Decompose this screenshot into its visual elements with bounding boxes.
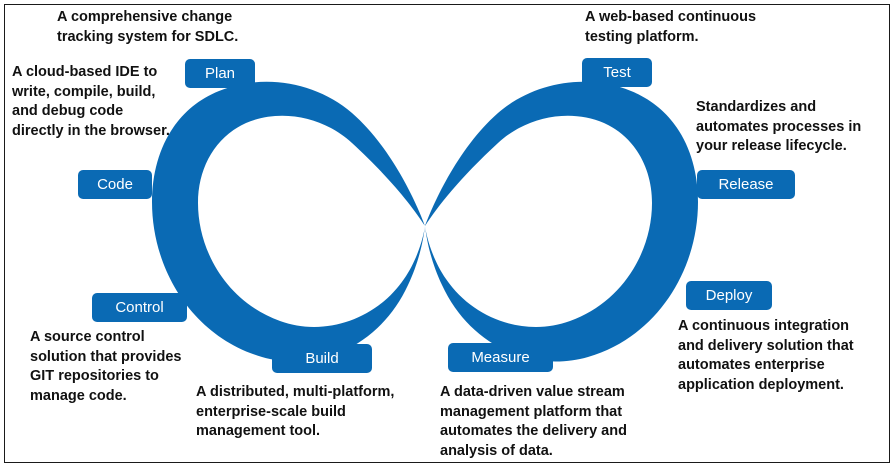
stage-label-measure[interactable]: Measure — [448, 343, 553, 372]
infinity-right-lobe — [425, 82, 698, 362]
caption-plan: A comprehensive change tracking system f… — [57, 8, 307, 47]
stage-label-code[interactable]: Code — [78, 170, 152, 199]
caption-measure: A data-driven value stream management pl… — [440, 383, 685, 461]
stage-label-test[interactable]: Test — [582, 58, 652, 87]
caption-deploy: A continuous integration and delivery so… — [678, 317, 893, 395]
stage-label-release[interactable]: Release — [697, 170, 795, 199]
caption-code: A cloud-based IDE to write, compile, bui… — [12, 63, 222, 141]
devops-infinity-diagram: Plan Code Control Build Measure Deploy R… — [0, 0, 896, 469]
stage-label-deploy[interactable]: Deploy — [686, 281, 772, 310]
caption-build: A distributed, multi-platform, enterpris… — [196, 383, 461, 442]
stage-label-control[interactable]: Control — [92, 293, 187, 322]
stage-label-build[interactable]: Build — [272, 344, 372, 373]
caption-release: Standardizes and automates processes in … — [696, 98, 896, 157]
caption-test: A web-based continuous testing platform. — [585, 8, 815, 47]
